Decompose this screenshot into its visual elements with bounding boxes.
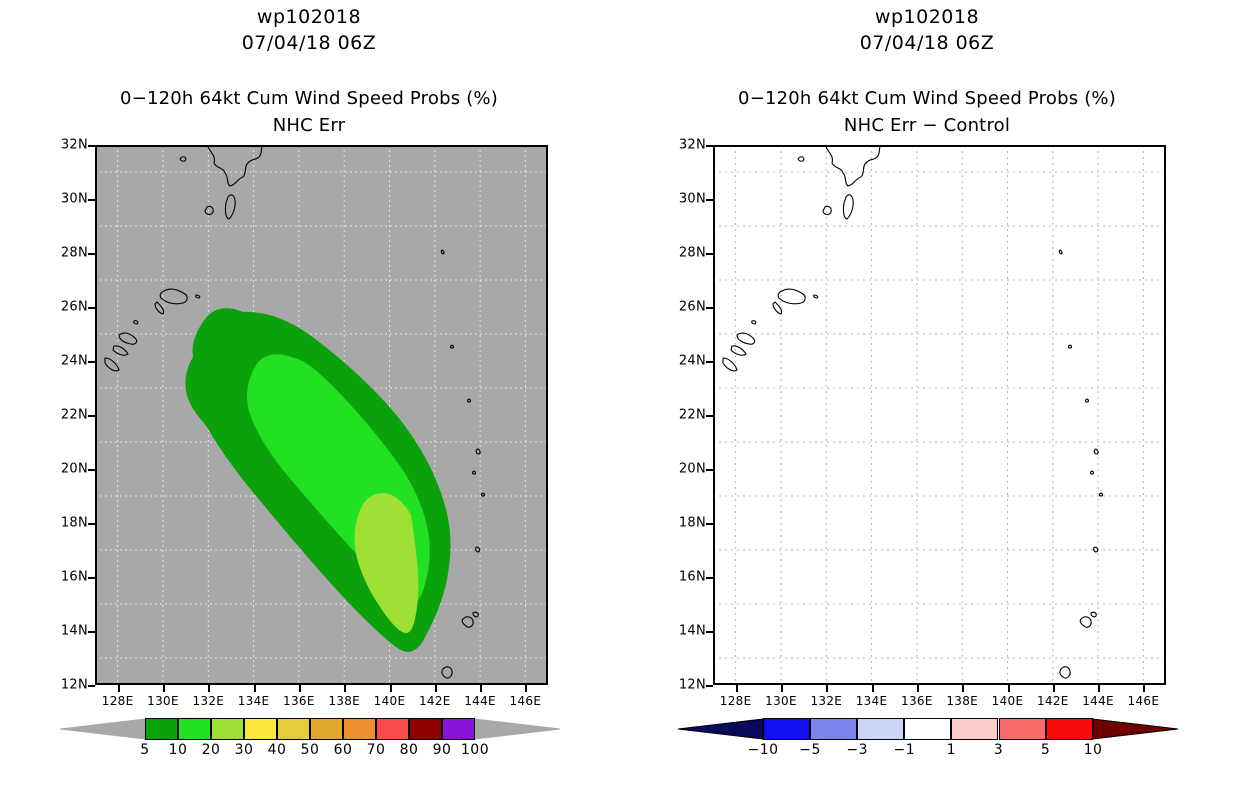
right-cb-swatch-1 bbox=[951, 718, 998, 740]
left-cb-swatch-10 bbox=[178, 718, 211, 740]
right-cb-label-10: 10 bbox=[1084, 742, 1103, 758]
right-map[interactable]: 12N 14N 16N 18N 20N 22N 24N 26N 28N 30N … bbox=[713, 145, 1166, 685]
left-xlabel-140E: 140E bbox=[374, 694, 406, 708]
left-xlabel-130E: 130E bbox=[147, 694, 179, 708]
left-cb-swatch-50 bbox=[310, 718, 343, 740]
left-ylabel-20N: 20N bbox=[61, 462, 88, 477]
right-main-title: 0−120h 64kt Cum Wind Speed Probs (%) bbox=[618, 88, 1236, 109]
right-xlabel-138E: 138E bbox=[946, 694, 978, 708]
right-ylabel-26N: 26N bbox=[679, 300, 706, 315]
right-map-border bbox=[713, 145, 1166, 685]
left-cb-label-60: 60 bbox=[334, 742, 353, 758]
left-colorbar-swatches bbox=[60, 718, 560, 740]
left-xlabel-132E: 132E bbox=[192, 694, 224, 708]
left-xlabel-144E: 144E bbox=[464, 694, 496, 708]
left-cb-swatch-5 bbox=[145, 718, 178, 740]
right-cb-label-3: 3 bbox=[994, 742, 1003, 758]
right-ylabel-32N: 32N bbox=[679, 138, 706, 153]
left-cb-label-20: 20 bbox=[202, 742, 221, 758]
left-cb-label-90: 90 bbox=[433, 742, 452, 758]
right-cb-swatch-neg3 bbox=[857, 718, 904, 740]
right-ylabel-20N: 20N bbox=[679, 462, 706, 477]
right-cb-swatch-neg5 bbox=[810, 718, 857, 740]
right-cb-label-neg3: −3 bbox=[846, 742, 868, 758]
left-cb-label-10: 10 bbox=[169, 742, 188, 758]
right-colorbar-swatches bbox=[678, 718, 1178, 740]
left-cb-swatch-60 bbox=[343, 718, 376, 740]
panel-right: wp102018 07/04/18 06Z 0−120h 64kt Cum Wi… bbox=[618, 0, 1236, 800]
right-ylabel-30N: 30N bbox=[679, 192, 706, 207]
left-cb-label-50: 50 bbox=[301, 742, 320, 758]
left-ylabel-32N: 32N bbox=[61, 138, 88, 153]
right-subtitle: NHC Err − Control bbox=[618, 115, 1236, 136]
right-storm-id-title: wp102018 bbox=[618, 6, 1236, 28]
right-cb-swatch-5 bbox=[1046, 718, 1093, 740]
left-ylabel-12N: 12N bbox=[61, 678, 88, 693]
right-xlabel-132E: 132E bbox=[810, 694, 842, 708]
right-date-title: 07/04/18 06Z bbox=[618, 32, 1236, 54]
left-cb-swatch-30 bbox=[244, 718, 277, 740]
left-ylabel-16N: 16N bbox=[61, 570, 88, 585]
left-cb-label-100: 100 bbox=[461, 742, 489, 758]
left-xlabel-142E: 142E bbox=[419, 694, 451, 708]
right-cb-swatch-neg1-to-1 bbox=[904, 718, 951, 740]
left-xlabel-136E: 136E bbox=[283, 694, 315, 708]
right-xlabel-136E: 136E bbox=[901, 694, 933, 708]
left-date-title: 07/04/18 06Z bbox=[0, 32, 618, 54]
left-colorbar[interactable]: 5 10 20 30 40 50 60 70 80 90 100 bbox=[60, 718, 560, 740]
left-cb-swatch-20 bbox=[211, 718, 244, 740]
right-cb-label-1: 1 bbox=[947, 742, 956, 758]
left-colorbar-labels: 5 10 20 30 40 50 60 70 80 90 100 bbox=[60, 742, 560, 760]
right-xlabel-144E: 144E bbox=[1082, 694, 1114, 708]
right-xlabel-130E: 130E bbox=[765, 694, 797, 708]
left-cb-label-40: 40 bbox=[268, 742, 287, 758]
right-xlabel-128E: 128E bbox=[720, 694, 752, 708]
right-ylabel-18N: 18N bbox=[679, 516, 706, 531]
left-ylabel-22N: 22N bbox=[61, 408, 88, 423]
left-cb-swatch-70 bbox=[376, 718, 409, 740]
left-cb-swatch-40 bbox=[277, 718, 310, 740]
right-ylabel-14N: 14N bbox=[679, 624, 706, 639]
left-subtitle: NHC Err bbox=[0, 115, 618, 136]
left-cb-label-80: 80 bbox=[400, 742, 419, 758]
left-xlabel-134E: 134E bbox=[238, 694, 270, 708]
right-xlabel-140E: 140E bbox=[992, 694, 1024, 708]
right-xlabel-146E: 146E bbox=[1128, 694, 1160, 708]
left-xlabel-138E: 138E bbox=[328, 694, 360, 708]
left-main-title: 0−120h 64kt Cum Wind Speed Probs (%) bbox=[0, 88, 618, 109]
left-xlabel-146E: 146E bbox=[510, 694, 542, 708]
right-colorbar-labels: −10 −5 −3 −1 1 3 5 10 bbox=[678, 742, 1178, 760]
right-ylabel-16N: 16N bbox=[679, 570, 706, 585]
left-ylabel-26N: 26N bbox=[61, 300, 88, 315]
right-colorbar[interactable]: −10 −5 −3 −1 1 3 5 10 bbox=[678, 718, 1178, 740]
right-cb-label-neg10: −10 bbox=[747, 742, 778, 758]
left-ylabel-24N: 24N bbox=[61, 354, 88, 369]
left-cb-label-30: 30 bbox=[235, 742, 254, 758]
left-cb-label-5: 5 bbox=[140, 742, 149, 758]
right-ylabel-12N: 12N bbox=[679, 678, 706, 693]
left-ylabel-30N: 30N bbox=[61, 192, 88, 207]
right-cb-label-neg5: −5 bbox=[799, 742, 821, 758]
left-storm-id-title: wp102018 bbox=[0, 6, 618, 28]
right-cb-swatch-neg10 bbox=[763, 718, 810, 740]
forecast-probability-figure: wp102018 07/04/18 06Z 0−120h 64kt Cum Wi… bbox=[0, 0, 1236, 800]
left-ylabel-18N: 18N bbox=[61, 516, 88, 531]
left-map[interactable]: 12N 14N 16N 18N 20N 22N 24N 26N 28N 30N … bbox=[95, 145, 548, 685]
panel-left: wp102018 07/04/18 06Z 0−120h 64kt Cum Wi… bbox=[0, 0, 618, 800]
left-cb-swatch-80 bbox=[409, 718, 442, 740]
left-xlabel-128E: 128E bbox=[102, 694, 134, 708]
right-ylabel-24N: 24N bbox=[679, 354, 706, 369]
right-cb-label-neg1: −1 bbox=[893, 742, 915, 758]
left-ylabel-28N: 28N bbox=[61, 246, 88, 261]
left-map-border bbox=[95, 145, 548, 685]
right-ylabel-22N: 22N bbox=[679, 408, 706, 423]
right-ylabel-28N: 28N bbox=[679, 246, 706, 261]
left-cb-label-70: 70 bbox=[367, 742, 386, 758]
left-cb-swatch-90 bbox=[442, 718, 475, 740]
right-xlabel-134E: 134E bbox=[856, 694, 888, 708]
right-xlabel-142E: 142E bbox=[1037, 694, 1069, 708]
right-cb-swatch-3 bbox=[999, 718, 1046, 740]
right-cb-label-5: 5 bbox=[1041, 742, 1050, 758]
left-ylabel-14N: 14N bbox=[61, 624, 88, 639]
